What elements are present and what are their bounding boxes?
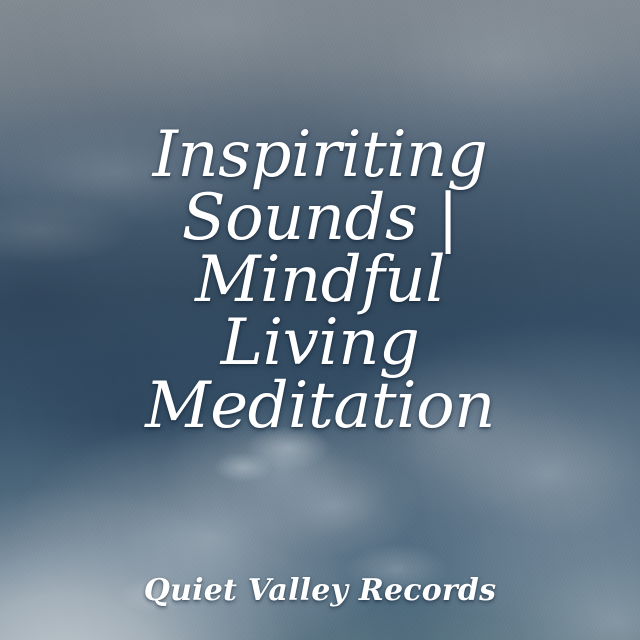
album-cover: Inspiriting Sounds | Mindful Living Medi…	[0, 0, 640, 640]
cover-text-content: Inspiriting Sounds | Mindful Living Medi…	[0, 0, 640, 640]
album-title: Inspiriting Sounds | Mindful Living Medi…	[0, 124, 640, 438]
record-label-name: Quiet Valley Records	[0, 576, 640, 606]
